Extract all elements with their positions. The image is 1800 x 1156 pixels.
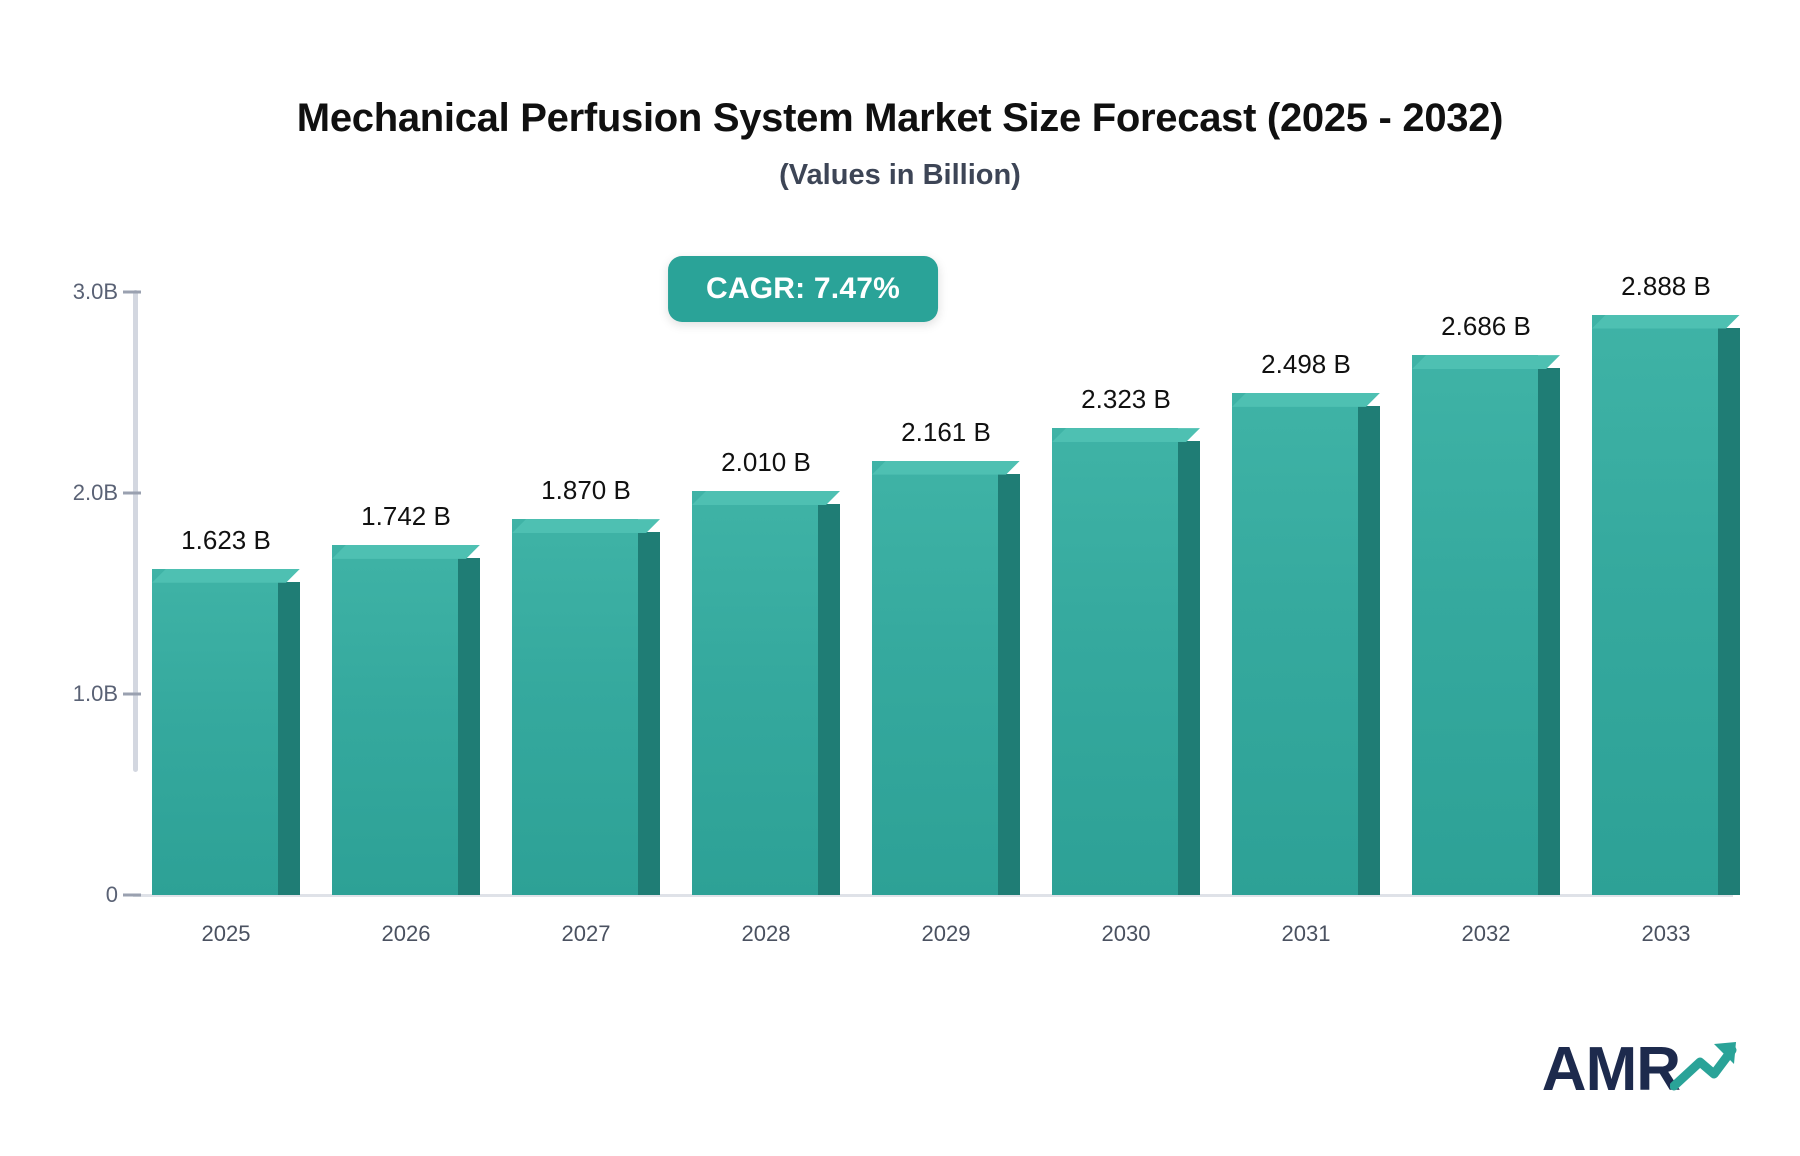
x-axis-category-label: 2026	[382, 921, 431, 947]
bar-value-label: 1.742 B	[361, 501, 451, 532]
bar-group[interactable]: 2.323 B2030	[1052, 428, 1200, 895]
bar-top-face	[152, 569, 300, 583]
x-axis-category-label: 2025	[202, 921, 251, 947]
bar-side-face	[638, 532, 660, 895]
bar-value-label: 2.888 B	[1621, 271, 1711, 302]
bar-group[interactable]: 2.010 B2028	[692, 491, 840, 895]
bar-top-polygon	[512, 519, 660, 533]
bar-top-face	[332, 545, 480, 559]
bar-side-face	[1178, 441, 1200, 895]
bar-value-label: 2.323 B	[1081, 384, 1171, 415]
bar-side-face	[818, 504, 840, 895]
bar-group[interactable]: 2.686 B2032	[1412, 355, 1560, 895]
bar-value-label: 1.870 B	[541, 475, 631, 506]
bar-group[interactable]: 2.888 B2033	[1592, 315, 1740, 895]
bar-top-polygon	[332, 545, 480, 559]
bar-front-face	[512, 519, 638, 895]
x-axis-category-label: 2030	[1102, 921, 1151, 947]
bar-group[interactable]: 2.498 B2031	[1232, 393, 1380, 895]
bar-front-face	[1412, 355, 1538, 895]
chart-plot-area: 01.0B2.0B3.0B 1.623 B20251.742 B20261.87…	[0, 0, 1800, 1156]
y-axis-tick-mark	[123, 291, 141, 294]
x-axis-category-label: 2033	[1642, 921, 1691, 947]
bar-value-label: 2.161 B	[901, 417, 991, 448]
x-axis-category-label: 2027	[562, 921, 611, 947]
amr-logo-text: AMR	[1542, 1039, 1680, 1101]
amr-logo: AMR	[1542, 1036, 1740, 1101]
y-axis-tick-mark	[123, 894, 141, 897]
bar-front-face	[152, 569, 278, 895]
y-axis-tick-mark	[123, 492, 141, 495]
bar-top-polygon	[152, 569, 300, 583]
bar-group[interactable]: 1.870 B2027	[512, 519, 660, 895]
x-axis-category-label: 2032	[1462, 921, 1511, 947]
bar-front-face	[1232, 393, 1358, 895]
bar-top-face	[872, 461, 1020, 475]
bar-side-face	[278, 582, 300, 895]
bar-value-label: 2.686 B	[1441, 311, 1531, 342]
bar-top-polygon	[1232, 393, 1380, 407]
bar-top-face	[1412, 355, 1560, 369]
growth-arrow-icon	[1670, 1036, 1740, 1097]
bar-front-face	[332, 545, 458, 895]
bar-front-face	[872, 461, 998, 895]
bar-front-face	[1052, 428, 1178, 895]
bar-top-polygon	[1592, 315, 1740, 329]
bar-top-polygon	[1052, 428, 1200, 442]
bar-group[interactable]: 1.742 B2026	[332, 545, 480, 895]
bar-group[interactable]: 2.161 B2029	[872, 461, 1020, 895]
y-axis-tick-label: 0	[28, 882, 118, 908]
bar-top-face	[1592, 315, 1740, 329]
bar-value-label: 1.623 B	[181, 525, 271, 556]
y-axis-tick-label: 2.0B	[28, 480, 118, 506]
bar-top-face	[512, 519, 660, 533]
bar-top-polygon	[692, 491, 840, 505]
bar-front-face	[1592, 315, 1718, 895]
y-axis-tick-label: 1.0B	[28, 681, 118, 707]
bar-side-face	[1358, 406, 1380, 895]
bar-group[interactable]: 1.623 B2025	[152, 569, 300, 895]
bar-top-polygon	[872, 461, 1020, 475]
y-axis-line	[133, 290, 138, 772]
bar-top-face	[692, 491, 840, 505]
x-axis-category-label: 2029	[922, 921, 971, 947]
x-axis-category-label: 2031	[1282, 921, 1331, 947]
bar-value-label: 2.010 B	[721, 447, 811, 478]
y-axis-tick-label: 3.0B	[28, 279, 118, 305]
y-axis-tick-mark	[123, 693, 141, 696]
bar-front-face	[692, 491, 818, 895]
bar-top-polygon	[1412, 355, 1560, 369]
bar-side-face	[1538, 368, 1560, 895]
bar-value-label: 2.498 B	[1261, 349, 1351, 380]
bar-side-face	[998, 474, 1020, 895]
x-axis-category-label: 2028	[742, 921, 791, 947]
bar-side-face	[1718, 328, 1740, 895]
bar-side-face	[458, 558, 480, 895]
bar-top-face	[1232, 393, 1380, 407]
bar-top-face	[1052, 428, 1200, 442]
